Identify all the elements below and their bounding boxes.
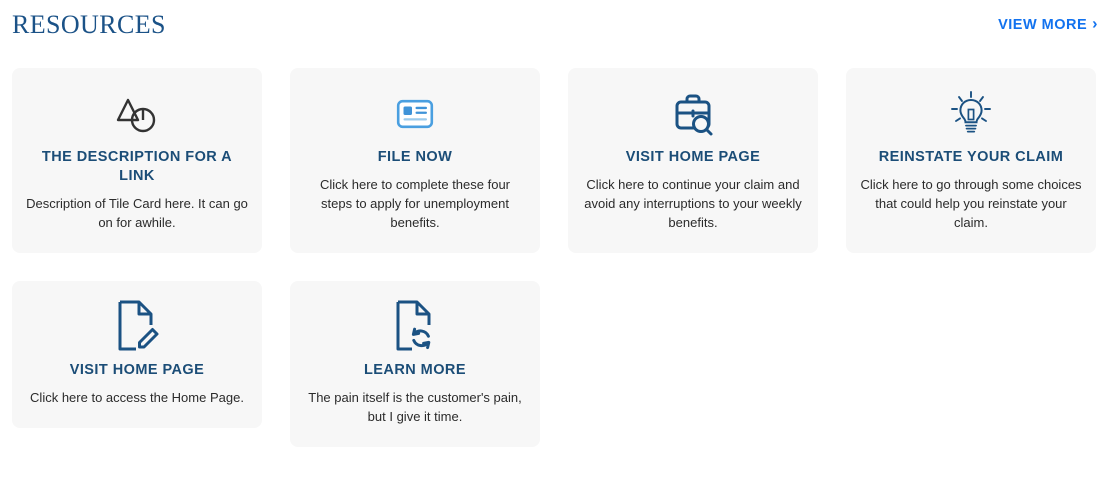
card-title: LEARN MORE (364, 361, 466, 380)
card-title: VISIT HOME PAGE (70, 361, 205, 380)
id-card-icon (396, 90, 434, 138)
document-edit-icon (114, 303, 160, 351)
chevron-right-icon: › (1092, 17, 1098, 33)
card-title: THE DESCRIPTION FOR A LINK (26, 148, 248, 186)
resource-card[interactable]: LEARN MORE The pain itself is the custom… (290, 281, 540, 447)
resources-section: RESOURCES VIEW MORE › THE DESCRIPTION FO… (0, 0, 1110, 498)
page-title: RESOURCES (12, 12, 166, 38)
resource-card[interactable]: VISIT HOME PAGE Click here to continue y… (568, 68, 818, 253)
card-title: REINSTATE YOUR CLAIM (879, 148, 1064, 167)
lightbulb-icon (947, 90, 995, 138)
view-more-label: VIEW MORE (998, 17, 1087, 33)
resource-card-grid: THE DESCRIPTION FOR A LINK Description o… (12, 68, 1098, 447)
card-title: VISIT HOME PAGE (626, 148, 761, 167)
view-more-link[interactable]: VIEW MORE › (998, 17, 1098, 33)
briefcase-search-icon (669, 90, 717, 138)
card-description: Description of Tile Card here. It can go… (26, 195, 248, 233)
card-description: Click here to complete these four steps … (304, 176, 526, 233)
card-description: Click here to go through some choices th… (860, 176, 1082, 233)
card-description: Click here to access the Home Page. (30, 389, 244, 408)
card-description: Click here to continue your claim and av… (582, 176, 804, 233)
card-title: FILE NOW (378, 148, 452, 167)
document-refresh-icon (392, 303, 438, 351)
triangle-circle-icon (114, 90, 160, 138)
resource-card[interactable]: THE DESCRIPTION FOR A LINK Description o… (12, 68, 262, 253)
resource-card[interactable]: FILE NOW Click here to complete these fo… (290, 68, 540, 253)
resource-card[interactable]: VISIT HOME PAGE Click here to access the… (12, 281, 262, 428)
resource-card[interactable]: REINSTATE YOUR CLAIM Click here to go th… (846, 68, 1096, 253)
card-description: The pain itself is the customer's pain, … (304, 389, 526, 427)
section-header: RESOURCES VIEW MORE › (0, 0, 1110, 50)
